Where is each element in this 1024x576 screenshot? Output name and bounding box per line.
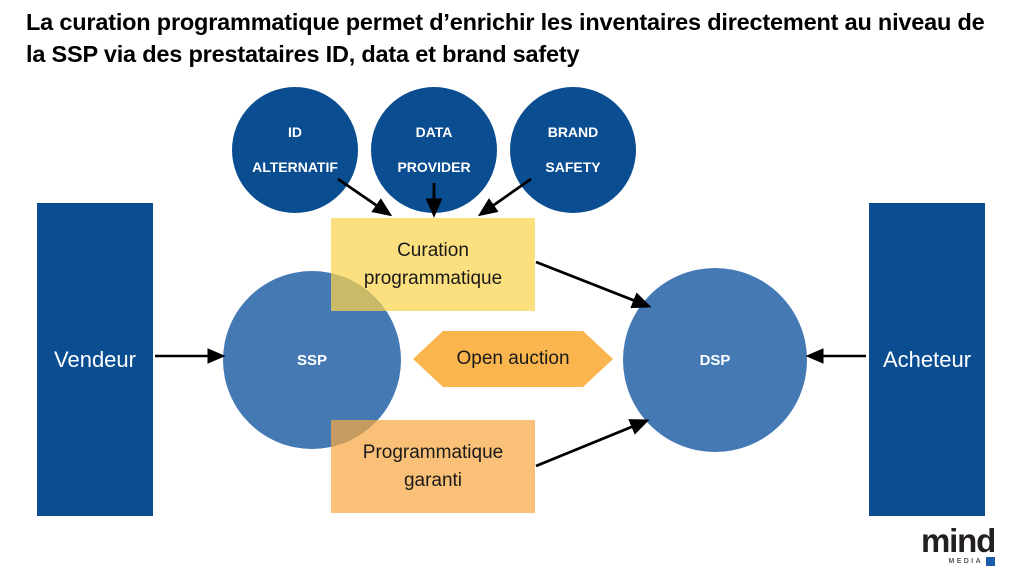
- deal-line2: programmatique: [364, 268, 502, 289]
- deal-label-open-auction: Open auction: [456, 348, 569, 370]
- platform-circle-dsp: DSP: [623, 268, 807, 452]
- logo-subtitle: MEDIA: [948, 558, 983, 565]
- deal-line1: Programmatique: [363, 442, 503, 463]
- deal-line1: Curation: [397, 240, 469, 261]
- actor-label-buyer: Acheteur: [883, 347, 971, 373]
- platform-label-ssp: SSP: [297, 352, 327, 369]
- deal-label-garanti: Programmatiquegaranti: [363, 439, 503, 494]
- provider-label-id-alternatif: IDALTERNATIF: [236, 124, 354, 177]
- deal-box-curation-programmatique: Curationprogrammatique: [331, 218, 535, 311]
- arrow-programmatique-garanti-to-dsp: [536, 421, 646, 466]
- provider-line2: PROVIDER: [389, 159, 478, 177]
- provider-circle-brand-safety: BRANDSAFETY: [510, 87, 636, 213]
- actor-label-seller: Vendeur: [54, 347, 136, 373]
- arrow-curation-to-dsp: [536, 262, 648, 306]
- provider-circle-id-alternatif: IDALTERNATIF: [232, 87, 358, 213]
- deal-label-curation: Curationprogrammatique: [364, 237, 502, 292]
- provider-label-data-provider: DATAPROVIDER: [381, 124, 486, 177]
- deal-box-programmatique-garanti: Programmatiquegaranti: [331, 420, 535, 513]
- provider-label-brand-safety: BRANDSAFETY: [529, 124, 616, 177]
- platform-label-dsp: DSP: [700, 352, 731, 369]
- provider-line1: DATA: [389, 124, 478, 142]
- deal-hexagon-open-auction: Open auction: [413, 331, 613, 387]
- actor-bar-buyer: Acheteur: [869, 203, 985, 516]
- deal-line2: garanti: [404, 470, 462, 491]
- slide-canvas: La curation programmatique permet d’enri…: [0, 0, 1024, 576]
- provider-circle-data-provider: DATAPROVIDER: [371, 87, 497, 213]
- provider-line2: SAFETY: [537, 159, 608, 177]
- provider-line1: BRAND: [537, 124, 608, 142]
- logo-wordmark: mind: [921, 525, 995, 556]
- mind-media-logo: mind MEDIA: [921, 525, 995, 566]
- logo-square-icon: [986, 557, 995, 566]
- provider-line1: ID: [244, 124, 346, 142]
- page-title: La curation programmatique permet d’enri…: [26, 6, 992, 71]
- logo-subtitle-row: MEDIA: [948, 557, 995, 566]
- actor-bar-seller: Vendeur: [37, 203, 153, 516]
- provider-line2: ALTERNATIF: [244, 159, 346, 177]
